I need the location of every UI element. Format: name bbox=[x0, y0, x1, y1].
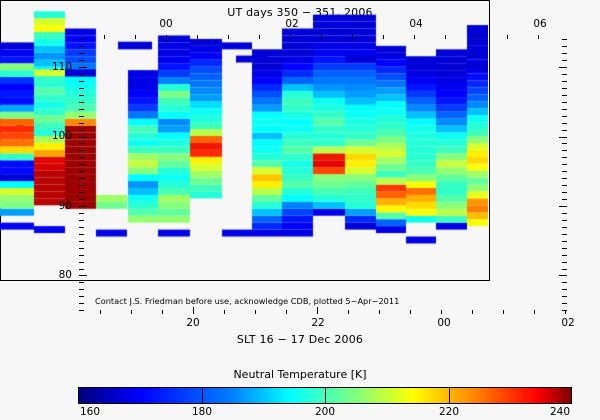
y-tick-left bbox=[79, 262, 84, 263]
x-tick-top bbox=[104, 35, 105, 39]
colorbar-title: Neutral Temperature [K] bbox=[0, 368, 600, 381]
bottom-axis-title: SLT 16 − 17 Dec 2006 bbox=[0, 333, 600, 346]
x-tick-top bbox=[290, 35, 291, 39]
y-tick-left bbox=[79, 310, 84, 311]
x-tick-label-bottom: 20 bbox=[186, 317, 199, 329]
y-tick-right bbox=[562, 109, 567, 110]
y-tick-right bbox=[559, 275, 567, 276]
y-tick-left bbox=[79, 95, 84, 96]
x-tick-top bbox=[383, 35, 384, 39]
x-tick-top bbox=[352, 35, 353, 39]
y-tick-right bbox=[562, 227, 567, 228]
colorbar-tick-label: 220 bbox=[439, 406, 459, 418]
y-tick-right bbox=[559, 137, 567, 138]
y-tick-right bbox=[562, 303, 567, 304]
x-tick-bottom bbox=[472, 310, 473, 314]
x-tick-top bbox=[445, 35, 446, 39]
y-tick-left bbox=[79, 53, 84, 54]
y-tick-left bbox=[79, 171, 84, 172]
colorbar-tick-label: 180 bbox=[192, 406, 212, 418]
x-tick-label-bottom: 22 bbox=[311, 317, 324, 329]
y-tick-right bbox=[562, 178, 567, 179]
y-tick-right bbox=[562, 46, 567, 47]
x-tick-label-bottom: 00 bbox=[437, 317, 450, 329]
y-tick-left bbox=[79, 199, 84, 200]
colorbar-tick-label: 200 bbox=[315, 406, 335, 418]
y-tick-right bbox=[562, 88, 567, 89]
y-tick-right bbox=[562, 234, 567, 235]
y-tick-right bbox=[562, 269, 567, 270]
y-tick-right bbox=[562, 164, 567, 165]
y-tick-left bbox=[79, 157, 84, 158]
y-tick-left bbox=[79, 150, 84, 151]
y-tick-left bbox=[79, 109, 84, 110]
y-tick-right bbox=[562, 262, 567, 263]
y-tick-left bbox=[79, 102, 84, 103]
y-tick-left bbox=[79, 192, 84, 193]
y-tick-left bbox=[79, 282, 84, 283]
heatmap-plot-area[interactable] bbox=[0, 0, 490, 281]
x-tick-top bbox=[135, 35, 136, 39]
x-tick-bottom bbox=[162, 310, 163, 314]
y-tick-right bbox=[562, 81, 567, 82]
figure-root: UT days 350 − 351, 2006 SLT 16 − 17 Dec … bbox=[0, 0, 600, 420]
y-tick-right bbox=[562, 143, 567, 144]
x-tick-bottom bbox=[286, 310, 287, 314]
x-tick-bottom bbox=[131, 310, 132, 314]
y-tick-left bbox=[79, 178, 84, 179]
x-tick-bottom bbox=[503, 310, 504, 314]
y-tick-right bbox=[562, 296, 567, 297]
y-tick-right bbox=[562, 213, 567, 214]
y-tick-left bbox=[79, 213, 84, 214]
y-tick-right bbox=[562, 130, 567, 131]
y-tick-right bbox=[562, 220, 567, 221]
x-tick-top bbox=[166, 35, 167, 42]
x-tick-top bbox=[507, 35, 508, 39]
x-tick-bottom bbox=[379, 310, 380, 314]
y-tick-right bbox=[562, 150, 567, 151]
y-tick-left bbox=[79, 185, 84, 186]
y-tick-left bbox=[79, 81, 84, 82]
y-tick-right bbox=[562, 60, 567, 61]
x-tick-label-bottom: 02 bbox=[561, 317, 574, 329]
y-tick-left bbox=[79, 269, 84, 270]
y-tick-label: 100 bbox=[38, 130, 72, 142]
y-tick-right bbox=[562, 199, 567, 200]
y-tick-label: 90 bbox=[38, 200, 72, 212]
x-tick-bottom bbox=[410, 310, 411, 314]
y-tick-left bbox=[79, 289, 84, 290]
y-tick-label: 110 bbox=[38, 61, 72, 73]
y-tick-right bbox=[562, 185, 567, 186]
y-tick-left bbox=[79, 220, 84, 221]
y-tick-right bbox=[562, 116, 567, 117]
y-tick-left bbox=[79, 241, 84, 242]
y-tick-right bbox=[562, 289, 567, 290]
x-tick-bottom bbox=[193, 307, 194, 314]
y-tick-right bbox=[562, 123, 567, 124]
y-tick-right bbox=[562, 255, 567, 256]
colorbar-tick bbox=[325, 387, 326, 404]
y-tick-left bbox=[79, 137, 87, 138]
y-tick-left bbox=[79, 296, 84, 297]
colorbar-tick bbox=[202, 387, 203, 404]
y-tick-left bbox=[79, 60, 84, 61]
y-tick-right bbox=[562, 53, 567, 54]
y-tick-left bbox=[79, 116, 84, 117]
y-tick-left bbox=[79, 248, 84, 249]
y-tick-right bbox=[562, 310, 567, 311]
y-tick-right bbox=[562, 95, 567, 96]
x-tick-bottom bbox=[255, 310, 256, 314]
y-tick-left bbox=[79, 234, 84, 235]
x-tick-bottom bbox=[441, 310, 442, 314]
y-tick-left bbox=[79, 227, 84, 228]
y-tick-right bbox=[559, 67, 567, 68]
x-tick-bottom bbox=[317, 307, 318, 314]
y-tick-right bbox=[562, 74, 567, 75]
x-tick-bottom bbox=[100, 310, 101, 314]
y-tick-left bbox=[79, 123, 84, 124]
y-tick-left bbox=[79, 46, 84, 47]
y-tick-left bbox=[79, 164, 84, 165]
colorbar-tick bbox=[449, 387, 450, 404]
x-tick-label-top: 02 bbox=[285, 18, 298, 30]
y-tick-right bbox=[562, 102, 567, 103]
x-tick-bottom bbox=[348, 310, 349, 314]
y-tick-left bbox=[79, 88, 84, 89]
y-tick-right bbox=[562, 282, 567, 283]
x-tick-label-top: 00 bbox=[159, 18, 172, 30]
y-tick-right bbox=[562, 241, 567, 242]
credit-note: Contact J.S. Friedman before use, acknow… bbox=[95, 296, 399, 306]
y-tick-left bbox=[79, 275, 87, 276]
y-tick-left bbox=[79, 74, 84, 75]
y-tick-left bbox=[79, 255, 84, 256]
y-tick-right bbox=[562, 157, 567, 158]
y-tick-left bbox=[79, 67, 87, 68]
y-tick-label: 80 bbox=[38, 269, 72, 281]
x-tick-bottom bbox=[224, 310, 225, 314]
x-tick-top bbox=[259, 35, 260, 39]
x-tick-bottom bbox=[534, 310, 535, 314]
y-tick-right bbox=[559, 206, 567, 207]
x-tick-label-top: 06 bbox=[533, 18, 546, 30]
x-tick-top bbox=[321, 35, 322, 39]
x-tick-top bbox=[476, 35, 477, 39]
y-tick-right bbox=[562, 171, 567, 172]
y-tick-left bbox=[79, 130, 84, 131]
heatmap-canvas bbox=[0, 0, 488, 279]
x-tick-top bbox=[197, 35, 198, 39]
x-tick-top bbox=[414, 35, 415, 39]
y-tick-left bbox=[79, 303, 84, 304]
colorbar-tick-label: 160 bbox=[80, 406, 100, 418]
x-tick-label-top: 04 bbox=[409, 18, 422, 30]
y-tick-right bbox=[562, 192, 567, 193]
x-tick-top bbox=[228, 35, 229, 39]
y-tick-left bbox=[79, 143, 84, 144]
y-tick-left bbox=[79, 206, 87, 207]
y-tick-right bbox=[562, 39, 567, 40]
y-tick-left bbox=[79, 39, 84, 40]
y-tick-right bbox=[562, 248, 567, 249]
x-tick-top bbox=[538, 35, 539, 39]
colorbar-tick-label: 240 bbox=[550, 406, 570, 418]
